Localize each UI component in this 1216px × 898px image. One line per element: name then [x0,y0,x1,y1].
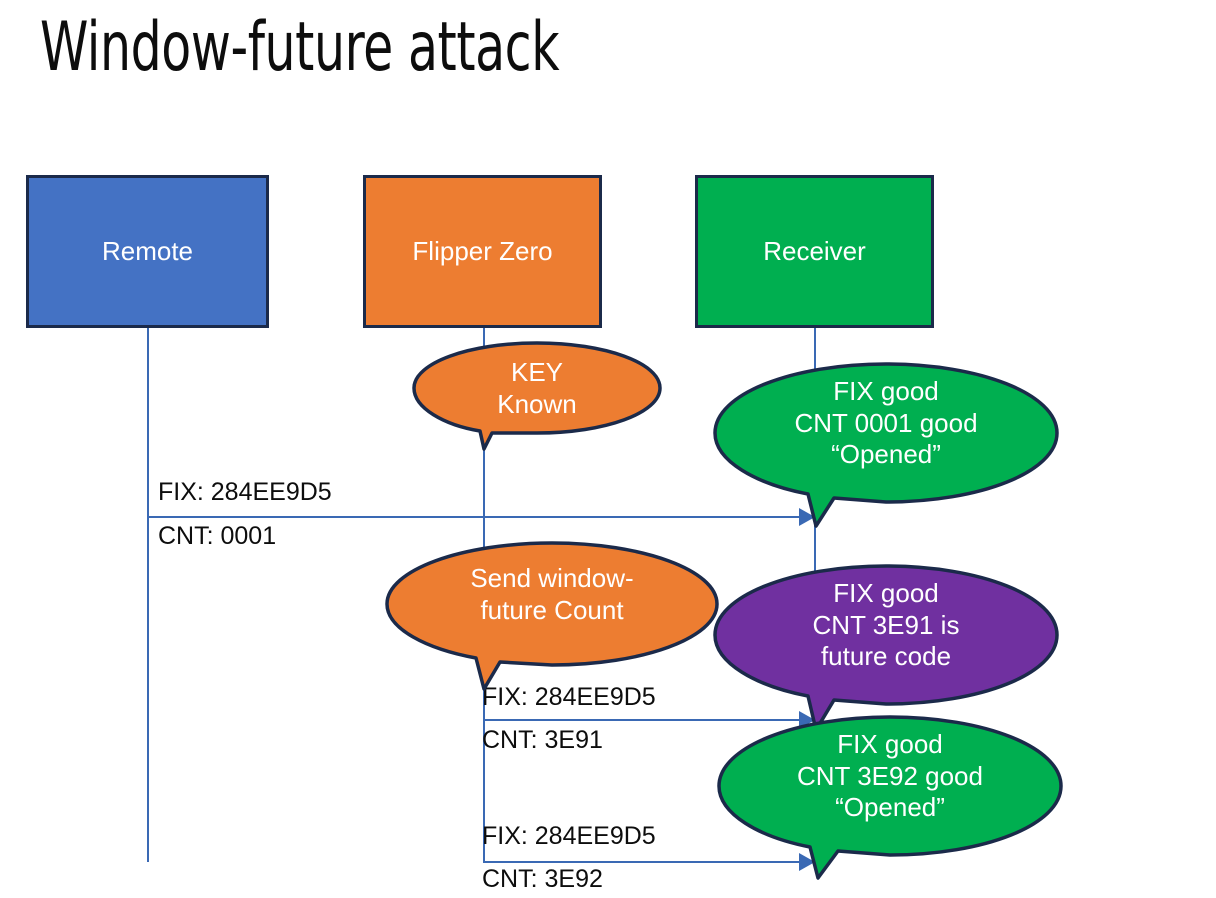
page-title: Window-future attack [40,8,559,87]
actor-box-remote[interactable]: Remote [26,175,269,328]
actor-label-flipper-zero: Flipper Zero [412,237,552,266]
callout-send-window-future[interactable]: Send window- future Count [384,541,720,681]
actor-box-flipper-zero[interactable]: Flipper Zero [363,175,602,328]
message-1-label-above: FIX: 284EE9D5 [158,479,332,507]
callout-fix-good-0001-shape [712,362,1060,532]
actor-label-remote: Remote [102,237,193,266]
callout-send-window-future-shape [384,541,720,693]
callout-key-known-shape [412,341,662,451]
message-3-label-below: CNT: 3E92 [482,866,603,894]
callout-fix-good-3e92[interactable]: FIX good CNT 3E92 good “Opened” [716,715,1064,871]
callout-future-code[interactable]: FIX good CNT 3E91 is future code [712,564,1060,722]
callout-future-code-shape [712,564,1060,736]
actor-box-receiver[interactable]: Receiver [695,175,934,328]
lifeline-remote [147,328,149,862]
actor-label-receiver: Receiver [763,237,866,266]
message-2-label-below: CNT: 3E91 [482,727,603,755]
callout-fix-good-0001[interactable]: FIX good CNT 0001 good “Opened” [712,362,1060,518]
callout-fix-good-3e92-shape [716,715,1064,885]
slide-canvas: Window-future attack Remote Flipper Zero… [0,0,1216,898]
message-line-1 [147,516,799,518]
message-3-label-above: FIX: 284EE9D5 [482,823,656,851]
message-1-label-below: CNT: 0001 [158,523,276,551]
callout-key-known[interactable]: KEY Known [412,341,662,439]
